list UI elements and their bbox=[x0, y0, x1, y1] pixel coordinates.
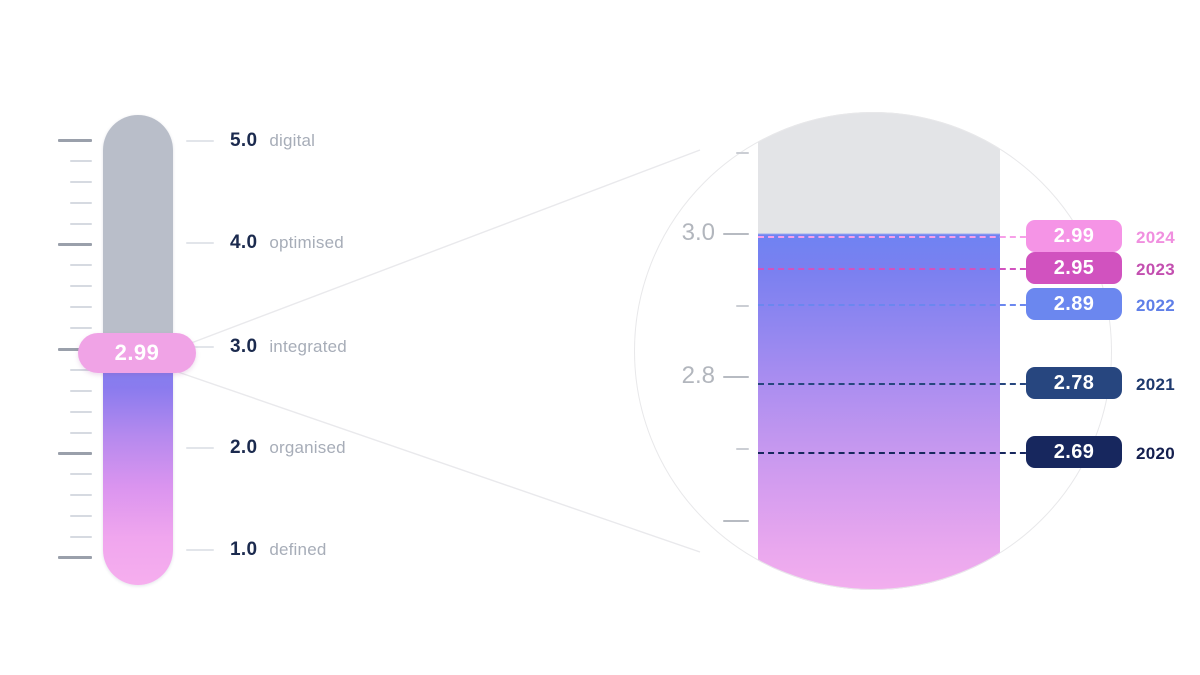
scale-connector bbox=[186, 140, 214, 142]
tick-minor bbox=[70, 494, 92, 496]
scale-name: integrated bbox=[269, 337, 347, 357]
tick-minor bbox=[70, 160, 92, 162]
dash-line-2023 bbox=[758, 268, 1036, 270]
tick-minor bbox=[70, 223, 92, 225]
infographic-canvas: 5.0 digital 4.0 optimised 3.0 integrated… bbox=[0, 0, 1200, 675]
badge-year-2022: 2022 bbox=[1136, 296, 1175, 316]
tick-minor bbox=[70, 327, 92, 329]
scale-connector bbox=[186, 242, 214, 244]
current-value-text: 2.99 bbox=[115, 340, 160, 366]
tick-minor bbox=[70, 181, 92, 183]
dash-line-2024 bbox=[758, 236, 1036, 238]
scale-name: optimised bbox=[269, 233, 344, 253]
tick-minor bbox=[70, 411, 92, 413]
mag-axis-label-2.8: 2.8 bbox=[645, 362, 715, 390]
scale-value: 3.0 bbox=[230, 336, 257, 358]
scale-value: 4.0 bbox=[230, 232, 257, 254]
scale-name: digital bbox=[269, 131, 315, 151]
tick-minor bbox=[70, 306, 92, 308]
tick-minor bbox=[70, 202, 92, 204]
scale-value: 5.0 bbox=[230, 130, 257, 152]
scale-name: defined bbox=[269, 540, 326, 560]
tick-minor bbox=[70, 390, 92, 392]
badge-value: 2.69 bbox=[1054, 441, 1095, 464]
mag-tick-minor bbox=[736, 448, 749, 450]
tick-minor bbox=[70, 285, 92, 287]
badge-value: 2.99 bbox=[1054, 225, 1095, 248]
tick-major-1 bbox=[58, 556, 92, 559]
scale-label-optimised: 4.0 optimised bbox=[186, 232, 344, 254]
badge-year-2023: 2023 bbox=[1136, 260, 1175, 280]
scale-label-digital: 5.0 digital bbox=[186, 130, 315, 152]
badge-value: 2.89 bbox=[1054, 293, 1095, 316]
tick-major-5 bbox=[58, 139, 92, 142]
tick-minor bbox=[70, 264, 92, 266]
scale-label-defined: 1.0 defined bbox=[186, 539, 327, 561]
mag-tick-minor bbox=[723, 520, 749, 522]
tick-minor bbox=[70, 536, 92, 538]
badge-year-2021: 2021 bbox=[1136, 375, 1175, 395]
scale-label-integrated: 3.0 integrated bbox=[186, 336, 347, 358]
tick-minor bbox=[70, 515, 92, 517]
mag-axis-label-3.0: 3.0 bbox=[645, 219, 715, 247]
tick-minor bbox=[70, 432, 92, 434]
scale-name: organised bbox=[269, 438, 345, 458]
current-value-pill: 2.99 bbox=[78, 333, 196, 373]
badge-year-2024: 2024 bbox=[1136, 228, 1175, 248]
badge-2020[interactable]: 2.69 bbox=[1026, 436, 1122, 468]
scale-value: 1.0 bbox=[230, 539, 257, 561]
badge-year-2020: 2020 bbox=[1136, 444, 1175, 464]
scale-value: 2.0 bbox=[230, 437, 257, 459]
dash-line-2022 bbox=[758, 304, 1036, 306]
tick-major-4 bbox=[58, 243, 92, 246]
badge-value: 2.78 bbox=[1054, 372, 1095, 395]
badge-value: 2.95 bbox=[1054, 257, 1095, 280]
badge-2022[interactable]: 2.89 bbox=[1026, 288, 1122, 320]
magnifier-lens bbox=[634, 112, 1112, 590]
mag-tick-minor bbox=[736, 305, 749, 307]
badge-2021[interactable]: 2.78 bbox=[1026, 367, 1122, 399]
dash-line-2020 bbox=[758, 452, 1036, 454]
tick-minor bbox=[70, 473, 92, 475]
scale-connector bbox=[186, 549, 214, 551]
dash-line-2021 bbox=[758, 383, 1036, 385]
mag-tick-minor bbox=[736, 152, 749, 154]
mag-tick-2.8 bbox=[723, 376, 749, 378]
tick-major-2 bbox=[58, 452, 92, 455]
mag-tick-3.0 bbox=[723, 233, 749, 235]
scale-label-organised: 2.0 organised bbox=[186, 437, 346, 459]
scale-connector bbox=[186, 447, 214, 449]
badge-2024[interactable]: 2.99 bbox=[1026, 220, 1122, 252]
badge-2023[interactable]: 2.95 bbox=[1026, 252, 1122, 284]
